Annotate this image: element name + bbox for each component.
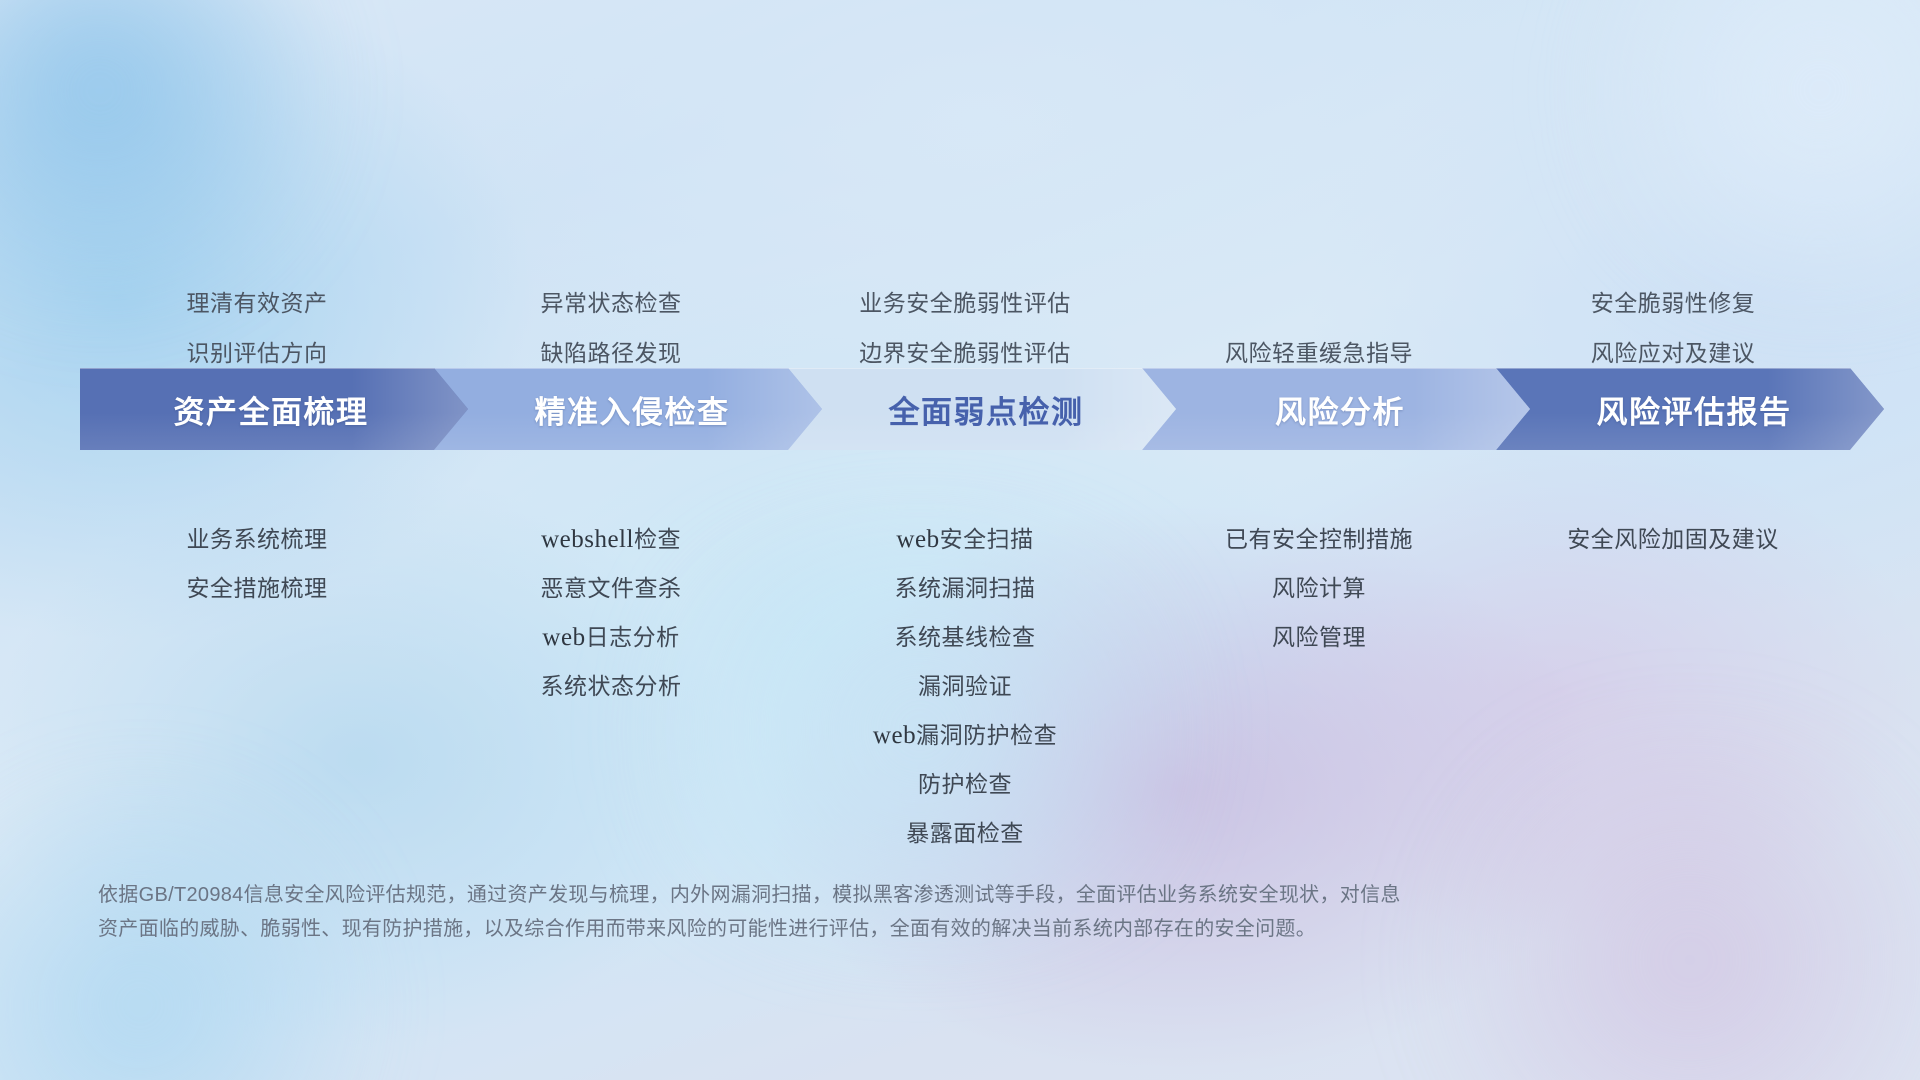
stage-4-top-items: 风险轻重缓急指导 — [1142, 238, 1496, 378]
list-item: 漏洞验证 — [788, 662, 1142, 711]
list-item: 风险管理 — [1142, 613, 1496, 662]
list-item-zh: 系统状态分析 — [541, 673, 682, 699]
list-item: 风险计算 — [1142, 564, 1496, 613]
process-stage-4[interactable]: 风险分析 — [1142, 368, 1530, 450]
stage-2-top-items: 异常状态检查缺陷路径发现 — [434, 238, 788, 378]
list-item-zh: 暴露面检查 — [906, 820, 1024, 846]
list-item: 理清有效资产 — [80, 278, 434, 328]
list-item-zh: 恶意文件查杀 — [541, 575, 682, 601]
footer-line-1: 依据GB/T20984信息安全风险评估规范，通过资产发现与梳理，内外网漏洞扫描，… — [98, 878, 1658, 912]
footer-line-2: 资产面临的威胁、脆弱性、现有防护措施，以及综合作用而带来风险的可能性进行评估，全… — [98, 912, 1658, 946]
stage-5-bottom-items: 安全风险加固及建议 — [1496, 515, 1850, 564]
list-item-zh: 防护检查 — [918, 771, 1012, 797]
list-item: 暴露面检查 — [788, 809, 1142, 858]
process-stage-3-label: 全面弱点检测 — [889, 387, 1084, 432]
list-item-en: web — [542, 624, 585, 651]
list-item-zh: 系统基线检查 — [895, 624, 1036, 650]
list-item: 系统基线检查 — [788, 613, 1142, 662]
list-item: web日志分析 — [434, 613, 788, 662]
list-item-en: webshell — [541, 526, 634, 553]
list-item-zh: 系统漏洞扫描 — [895, 575, 1036, 601]
process-stage-4-label: 风险分析 — [1275, 387, 1405, 432]
list-item-zh: 安全风险加固及建议 — [1567, 526, 1779, 552]
list-item-zh: 漏洞验证 — [918, 673, 1012, 699]
diagram-canvas: 理清有效资产识别评估方向业务系统梳理安全措施梳理异常状态检查缺陷路径发现webs… — [0, 0, 1920, 1080]
stage-5-top-items-inner: 安全脆弱性修复风险应对及建议 — [1496, 278, 1850, 378]
list-item: 业务系统梳理 — [80, 515, 434, 564]
process-stage-1-label: 资产全面梳理 — [174, 387, 369, 432]
list-item: 已有安全控制措施 — [1142, 515, 1496, 564]
list-item: webshell检查 — [434, 515, 788, 564]
list-item: 异常状态检查 — [434, 278, 788, 328]
list-item-en: web — [896, 526, 939, 553]
list-item: 防护检查 — [788, 760, 1142, 809]
list-item: 安全脆弱性修复 — [1496, 278, 1850, 328]
list-item-zh: 风险计算 — [1272, 575, 1366, 601]
list-item: web漏洞防护检查 — [788, 711, 1142, 760]
process-stage-2[interactable]: 精准入侵检查 — [434, 368, 822, 450]
list-item-zh: 风险管理 — [1272, 624, 1366, 650]
stage-4-bottom-items: 已有安全控制措施风险计算风险管理 — [1142, 515, 1496, 662]
stage-3-top-items: 业务安全脆弱性评估边界安全脆弱性评估 — [788, 238, 1142, 378]
process-stage-1[interactable]: 资产全面梳理 — [80, 368, 468, 450]
stage-3-bottom-items: web安全扫描系统漏洞扫描系统基线检查漏洞验证web漏洞防护检查防护检查暴露面检… — [788, 515, 1142, 858]
stage-5-top-items: 安全脆弱性修复风险应对及建议 — [1496, 238, 1850, 378]
list-item: 安全风险加固及建议 — [1496, 515, 1850, 564]
list-item: 系统状态分析 — [434, 662, 788, 711]
process-chevron-band: 资产全面梳理精准入侵检查全面弱点检测风险分析风险评估报告 — [80, 368, 1850, 450]
list-item-zh: 漏洞防护检查 — [916, 722, 1057, 748]
process-stage-3[interactable]: 全面弱点检测 — [788, 368, 1176, 450]
process-stage-2-label: 精准入侵检查 — [535, 387, 730, 432]
list-item-zh: 业务系统梳理 — [187, 526, 328, 552]
list-item-zh: 检查 — [634, 526, 681, 552]
stage-2-top-items-inner: 异常状态检查缺陷路径发现 — [434, 278, 788, 378]
stage-1-bottom-items: 业务系统梳理安全措施梳理 — [80, 515, 434, 613]
list-item-zh: 安全措施梳理 — [187, 575, 328, 601]
list-item: 恶意文件查杀 — [434, 564, 788, 613]
list-item: web安全扫描 — [788, 515, 1142, 564]
stage-1-top-items: 理清有效资产识别评估方向 — [80, 238, 434, 378]
list-item-zh: 安全扫描 — [940, 526, 1034, 552]
stage-3-top-items-inner: 业务安全脆弱性评估边界安全脆弱性评估 — [788, 278, 1142, 378]
stage-2-bottom-items: webshell检查恶意文件查杀web日志分析系统状态分析 — [434, 515, 788, 711]
list-item: 业务安全脆弱性评估 — [788, 278, 1142, 328]
footer-description: 依据GB/T20984信息安全风险评估规范，通过资产发现与梳理，内外网漏洞扫描，… — [98, 878, 1658, 946]
list-item: 安全措施梳理 — [80, 564, 434, 613]
list-item-en: web — [873, 722, 916, 749]
list-item-zh: 已有安全控制措施 — [1225, 526, 1413, 552]
process-stage-5[interactable]: 风险评估报告 — [1496, 368, 1884, 450]
stage-1-top-items-inner: 理清有效资产识别评估方向 — [80, 278, 434, 378]
process-stage-5-label: 风险评估报告 — [1597, 387, 1792, 432]
list-item-zh: 日志分析 — [586, 624, 680, 650]
list-item: 系统漏洞扫描 — [788, 564, 1142, 613]
